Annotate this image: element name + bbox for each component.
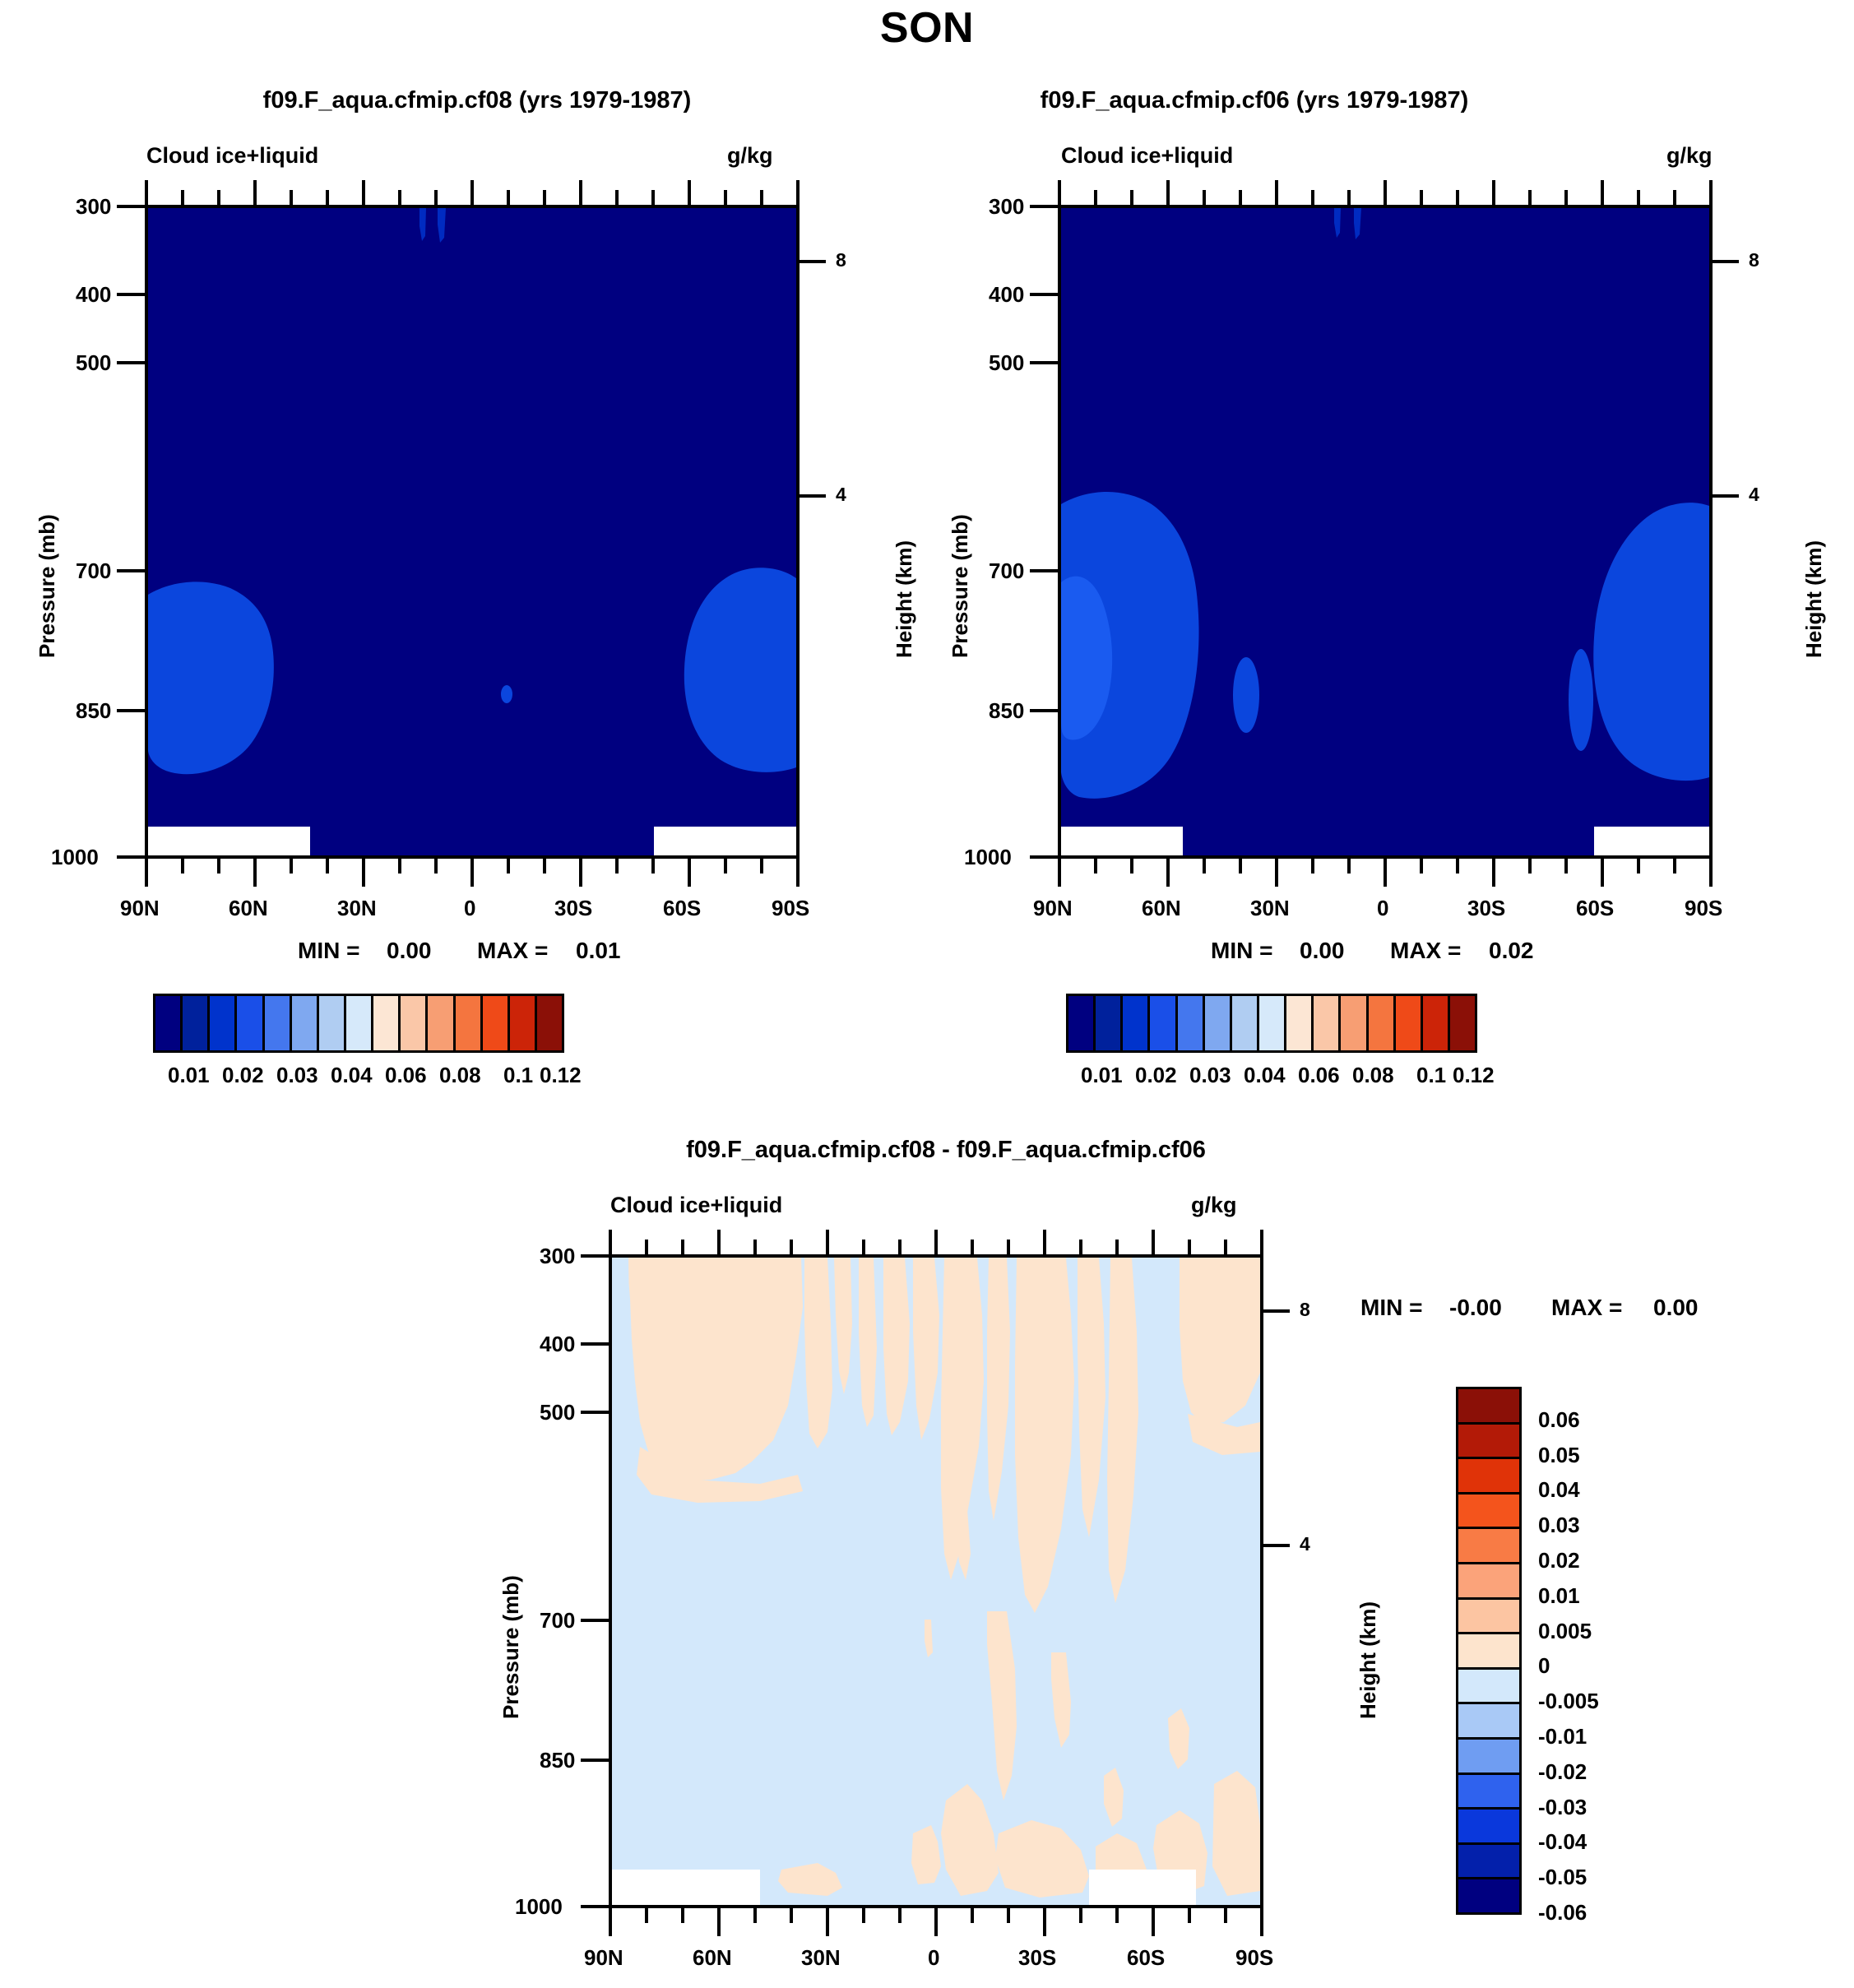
panel-c-colorbar-tick-12: -0.04 [1538,1829,1686,1855]
panel-b-toptick [1709,180,1713,205]
panel-b-xtick-0: 0 [1377,896,1388,921]
panel-c-xtickmark-minor [1224,1908,1227,1923]
panel-c-ytick-300: 300 [540,1244,575,1269]
panel-c-colorbar-tick-10: -0.02 [1538,1759,1686,1785]
panel-c-xtickmark-90S [1260,1908,1263,1936]
panel-c-plot-area[interactable] [609,1254,1263,1908]
panel-b-colorbar-swatch-4[interactable] [1178,996,1205,1050]
panel-a-toptick [145,180,148,205]
panel-c-ytickmark-700 [581,1619,609,1622]
panel-a-toptick [253,180,257,205]
panel-b-xtickmark-minor [1203,859,1206,874]
panel-c-colorbar-swatch-0[interactable] [1458,1389,1519,1425]
panel-c-xtickmark-minor [681,1908,684,1923]
panel-a-xtickmark-minor [507,859,510,874]
panel-c-toptick [1152,1230,1155,1254]
panel-a-toptick [615,190,619,205]
panel-a-colorbar-swatch-4[interactable] [265,996,292,1050]
panel-c-xtickmark-90N [609,1908,612,1936]
panel-c-toptick [826,1230,829,1254]
panel-c-xtick-90N: 90N [584,1945,623,1971]
panel-c-toptick [1224,1240,1227,1254]
panel-a-xtickmark-minor [651,859,655,874]
panel-b-xtickmark-minor [1673,859,1676,874]
panel-b-variable-label: Cloud ice+liquid [1061,143,1233,169]
panel-a-xtickmark-minor [290,859,293,874]
panel-b-xtick-90S: 90S [1685,896,1722,921]
panel-b-y2tickmark-8 [1713,260,1739,263]
panel-c-min-label: MIN = [1360,1295,1422,1321]
panel-c-toptick [971,1240,974,1254]
panel-c-colorbar-tick-5: 0.01 [1538,1583,1686,1609]
panel-b-cbar-tick-6: 0.1 [1416,1063,1446,1088]
panel-c-colorbar-swatch-8[interactable] [1458,1670,1519,1705]
panel-c-colorbar-tick-11: -0.03 [1538,1795,1686,1820]
panel-b-toptick [1347,190,1351,205]
panel-b-cbar-tick-5: 0.08 [1352,1063,1394,1088]
panel-c-xtickmark-minor [1115,1908,1119,1923]
panel-a-xtickmark-90N [145,859,148,887]
panel-c-xtickmark-minor [753,1908,757,1923]
panel-b-ytickmark-850 [1030,709,1058,712]
panel-a-xtickmark-0 [470,859,474,887]
panel-c-xtickmark-minor [1188,1908,1191,1923]
panel-a-y-axis-title: Pressure (mb) [35,514,60,658]
panel-a-xtickmark-60S [688,859,691,887]
panel-b-xtickmark-minor [1311,859,1314,874]
panel-a-colorbar-swatch-6[interactable] [319,996,346,1050]
panel-a-ytickmark-700 [117,569,145,572]
panel-b-ytick-500: 500 [989,350,1024,376]
panel-b-xtickmark-minor [1528,859,1532,874]
panel-b-xtickmark-0 [1384,859,1387,887]
panel-a-max-value: 0.01 [576,938,621,964]
panel-c-toptick [1007,1240,1010,1254]
panel-c-toptick [1188,1240,1191,1254]
panel-b-ytick-700: 700 [989,558,1024,584]
panel-b-y2-axis-title: Height (km) [1801,540,1827,658]
panel-c-toptick [753,1240,757,1254]
panel-a-xtick-30N: 30N [337,896,377,921]
panel-c-toptick [898,1240,902,1254]
panel-b-y2tick-8: 8 [1749,249,1759,271]
panel-a-variable-label: Cloud ice+liquid [146,143,318,169]
panel-c-min-value: -0.00 [1449,1295,1502,1321]
panel-b-ytick-1000: 1000 [964,845,1012,870]
panel-c-y2tickmark-4 [1263,1544,1290,1547]
panel-a-toptick [326,190,329,205]
panel-b-colorbar-swatch-14[interactable] [1450,996,1475,1050]
panel-b-xtickmark-30N [1275,859,1278,887]
panel-c-xtickmark-minor [898,1908,902,1923]
panel-a-cbar-tick-3: 0.04 [331,1063,373,1088]
panel-b-xtickmark-60S [1601,859,1604,887]
panel-b-colorbar-swatch-10[interactable] [1341,996,1368,1050]
panel-b-cbar-tick-2: 0.03 [1189,1063,1231,1088]
panel-a-ytick-1000: 1000 [51,845,99,870]
panel-c-ytickmark-300 [581,1254,609,1258]
panel-c-colorbar-swatch-4[interactable] [1458,1529,1519,1564]
panel-c-colorbar-tick-1: 0.05 [1538,1443,1686,1468]
panel-b-colorbar-swatch-13[interactable] [1423,996,1450,1050]
panel-b-colorbar-swatch-5[interactable] [1205,996,1232,1050]
panel-b-cbar-tick-7: 0.12 [1453,1063,1495,1088]
panel-a-toptick [290,190,293,205]
panel-b-max-value: 0.02 [1489,938,1534,964]
panel-c-colorbar-tick-3: 0.03 [1538,1513,1686,1538]
panel-c-y-axis-title: Pressure (mb) [498,1575,524,1719]
panel-a-xtick-90S: 90S [772,896,809,921]
panel-a-xtickmark-minor [434,859,438,874]
panel-c-ytickmark-1000 [581,1905,609,1908]
panel-c-y2tick-4: 4 [1300,1533,1310,1555]
panel-b-toptick [1275,180,1278,205]
panel-b-toptick [1420,190,1423,205]
panel-a-ytick-700: 700 [76,558,111,584]
panel-a-ytickmark-1000 [117,855,145,859]
panel-a-toptick [362,180,365,205]
panel-b-cbar-tick-3: 0.04 [1244,1063,1286,1088]
panel-c-xtickmark-minor [645,1908,648,1923]
panel-b-xtickmark-minor [1564,859,1568,874]
panel-c-colorbar-tick-7: 0 [1538,1653,1686,1679]
panel-a-ytickmark-850 [117,709,145,712]
panel-b-ytickmark-300 [1030,205,1058,208]
panel-a-toptick [651,190,655,205]
panel-b-ytick-300: 300 [989,194,1024,220]
panel-b-xtickmark-minor [1420,859,1423,874]
panel-a-ytickmark-500 [117,361,145,364]
panel-a-colorbar-swatch-14[interactable] [537,996,562,1050]
panel-a-ytick-400: 400 [76,282,111,308]
panel-a-colorbar-swatch-8[interactable] [373,996,401,1050]
panel-a-colorbar-swatch-13[interactable] [510,996,537,1050]
panel-b-colorbar-swatch-8[interactable] [1286,996,1314,1050]
panel-a-toptick [796,180,800,205]
panel-b-toptick [1384,180,1387,205]
panel-c-colorbar-labels: 0.060.050.040.030.020.010.0050-0.005-0.0… [1538,1387,1686,1915]
panel-a-ytickmark-400 [117,293,145,296]
panel-a-toptick [724,190,727,205]
panel-a-toptick [688,180,691,205]
panel-a-xtickmark-minor [398,859,401,874]
panel-b-cbar-tick-1: 0.02 [1135,1063,1177,1088]
panel-c-title: f09.F_aqua.cfmip.cf08 - f09.F_aqua.cfmip… [510,1137,1382,1164]
panel-a-y2tick-4: 4 [836,484,846,506]
panel-a-colorbar[interactable] [153,994,564,1053]
panel-b-xtick-90N: 90N [1033,896,1073,921]
panel-b-xtickmark-90S [1709,859,1713,887]
panel-b-xtick-30S: 30S [1467,896,1505,921]
panel-c-colorbar-tick-0: 0.06 [1538,1407,1686,1433]
panel-a-y2tickmark-4 [800,494,826,498]
panel-c-ytickmark-500 [581,1411,609,1414]
panel-b-xtickmark-minor [1094,859,1097,874]
panel-c-colorbar-swatch-11[interactable] [1458,1775,1519,1810]
panel-c-contours [612,1258,1260,1905]
panel-b-colorbar-swatch-1[interactable] [1096,996,1123,1050]
panel-a-cbar-tick-7: 0.12 [540,1063,582,1088]
panel-c-colorbar-tick-8: -0.005 [1538,1689,1686,1714]
panel-a-min-value: 0.00 [387,938,432,964]
panel-a-xtickmark-minor [760,859,763,874]
panel-c-toptick [681,1240,684,1254]
panel-c-colorbar-swatch-7[interactable] [1458,1634,1519,1670]
panel-a-xtickmark-30S [579,859,582,887]
panel-a-xtick-60S: 60S [663,896,701,921]
panel-a-xtick-90N: 90N [120,896,160,921]
panel-c-colorbar-swatch-2[interactable] [1458,1459,1519,1494]
panel-c-xtick-60N: 60N [693,1945,732,1971]
panel-c-ytickmark-400 [581,1342,609,1346]
panel-a-contours [148,208,796,855]
panel-b-min-value: 0.00 [1300,938,1345,964]
panel-a-xtick-30S: 30S [554,896,592,921]
panel-c-toptick [934,1230,938,1254]
panel-b-colorbar-swatch-3[interactable] [1150,996,1177,1050]
panel-b-max-label: MAX = [1390,938,1461,964]
panel-a-toptick [217,190,220,205]
panel-a-toptick [470,180,474,205]
panel-a-colorbar-swatch-7[interactable] [346,996,373,1050]
panel-c-ytick-700: 700 [540,1608,575,1633]
panel-c-xtickmark-60N [717,1908,721,1936]
panel-b-colorbar-swatch-0[interactable] [1068,996,1096,1050]
panel-b-xtickmark-minor [1456,859,1459,874]
panel-a-xtickmark-minor [615,859,619,874]
panel-c-xtick-30N: 30N [801,1945,841,1971]
panel-b-units-label: g/kg [1666,143,1713,169]
panel-b-colorbar-swatch-7[interactable] [1259,996,1286,1050]
panel-c-xtickmark-30N [826,1908,829,1936]
panel-b-xtick-60N: 60N [1142,896,1181,921]
panel-b-contours [1061,208,1709,855]
panel-b-ytick-400: 400 [989,282,1024,308]
panel-a-toptick [398,190,401,205]
panel-c-max-value: 0.00 [1653,1295,1699,1321]
panel-a-xtickmark-minor [326,859,329,874]
panel-b-toptick [1130,190,1133,205]
panel-c-xtickmark-minor [862,1908,865,1923]
panel-c-colorbar-swatch-12[interactable] [1458,1810,1519,1845]
panel-c-ytick-850: 850 [540,1748,575,1773]
panel-a-colorbar-swatch-5[interactable] [292,996,319,1050]
panel-c-xtickmark-minor [971,1908,974,1923]
panel-b-colorbar-swatch-9[interactable] [1314,996,1341,1050]
panel-b-xtickmark-60N [1166,859,1170,887]
panel-c-toptick [790,1240,793,1254]
figure-root: SON f09.F_aqua.cfmip.cf08 (yrs 1979-1987… [0,0,1854,1988]
panel-b-cbar-tick-4: 0.06 [1298,1063,1340,1088]
panel-b-ytick-850: 850 [989,698,1024,724]
panel-b-xtick-30N: 30N [1250,896,1290,921]
panel-b-toptick [1203,190,1206,205]
panel-c-ytick-400: 400 [540,1332,575,1357]
panel-b-y2tick-4: 4 [1749,484,1759,506]
panel-a-xtickmark-minor [543,859,546,874]
panel-c-ytick-500: 500 [540,1400,575,1425]
panel-c-xtickmark-minor [1079,1908,1082,1923]
panel-c-toptick [1043,1230,1046,1254]
panel-c-xtick-90S: 90S [1235,1945,1273,1971]
panel-a-colorbar-swatch-1[interactable] [183,996,210,1050]
panel-c-colorbar-swatch-5[interactable] [1458,1564,1519,1600]
panel-a-ytick-300: 300 [76,194,111,220]
panel-a-toptick [507,190,510,205]
panel-b-colorbar-swatch-11[interactable] [1369,996,1396,1050]
panel-c-colorbar-tick-4: 0.02 [1538,1548,1686,1573]
panel-a-xtickmark-minor [217,859,220,874]
panel-c-xtick-30S: 30S [1018,1945,1056,1971]
panel-a-cbar-tick-5: 0.08 [439,1063,481,1088]
panel-b-plot-area[interactable] [1058,205,1713,859]
panel-b-xtick-60S: 60S [1576,896,1614,921]
panel-c-colorbar-tick-2: 0.04 [1538,1477,1686,1503]
panel-a-y2tickmark-8 [800,260,826,263]
panel-b-xtickmark-minor [1347,859,1351,874]
panel-a-colorbar-swatch-12[interactable] [483,996,510,1050]
panel-c-units-label: g/kg [1191,1193,1237,1218]
panel-c-toptick [1079,1240,1082,1254]
panel-c-colorbar-tick-9: -0.01 [1538,1724,1686,1749]
panel-a-toptick [760,190,763,205]
panel-b-xtickmark-minor [1130,859,1133,874]
panel-b-toptick [1094,190,1097,205]
panel-c-xtickmark-30S [1043,1908,1046,1936]
panel-a-colorbar-swatch-11[interactable] [456,996,483,1050]
panel-c-xtick-60S: 60S [1127,1945,1165,1971]
panel-a-cbar-tick-6: 0.1 [503,1063,533,1088]
panel-a-xtickmark-minor [181,859,184,874]
panel-b-toptick [1166,180,1170,205]
panel-b-xtickmark-90N [1058,859,1061,887]
panel-a-xtickmark-minor [724,859,727,874]
panel-a-cbar-tick-4: 0.06 [385,1063,427,1088]
panel-a-min-label: MIN = [298,938,359,964]
figure-suptitle: SON [0,3,1854,53]
panel-b-toptick [1058,180,1061,205]
panel-b-min-label: MIN = [1211,938,1272,964]
panel-a-ytick-500: 500 [76,350,111,376]
panel-b-toptick [1673,190,1676,205]
panel-c-toptick [862,1240,865,1254]
panel-c-xtickmark-minor [790,1908,793,1923]
panel-b-ytickmark-500 [1030,361,1058,364]
panel-b-toptick [1492,180,1495,205]
panel-c-colorbar-swatch-14[interactable] [1458,1879,1519,1912]
panel-b-ytickmark-400 [1030,293,1058,296]
panel-a-ytick-850: 850 [76,698,111,724]
panel-a-colorbar-swatch-9[interactable] [401,996,428,1050]
panel-c-colorbar-swatch-3[interactable] [1458,1494,1519,1530]
panel-b-cbar-tick-0: 0.01 [1081,1063,1123,1088]
panel-a-xtickmark-60N [253,859,257,887]
panel-b-toptick [1564,190,1568,205]
panel-c-colorbar-tick-6: 0.005 [1538,1619,1686,1644]
panel-c-toptick [1260,1230,1263,1254]
panel-c-y2-axis-title: Height (km) [1356,1601,1381,1719]
panel-b-colorbar-swatch-6[interactable] [1232,996,1259,1050]
panel-c-toptick [717,1230,721,1254]
panel-c-colorbar-swatch-9[interactable] [1458,1704,1519,1740]
panel-a-colorbar-swatch-2[interactable] [210,996,237,1050]
panel-c-xtickmark-0 [934,1908,938,1936]
panel-c-y2tick-8: 8 [1300,1299,1310,1321]
panel-c-ytickmark-850 [581,1759,609,1762]
panel-c-colorbar[interactable] [1456,1387,1522,1915]
panel-b-colorbar-swatch-12[interactable] [1396,996,1423,1050]
panel-a-y2tick-8: 8 [836,249,846,271]
panel-c-toptick [1115,1240,1119,1254]
panel-b-toptick [1456,190,1459,205]
panel-a-colorbar-swatch-10[interactable] [428,996,455,1050]
panel-c-xtickmark-60S [1152,1908,1155,1936]
panel-c-colorbar-swatch-13[interactable] [1458,1845,1519,1880]
panel-a-cbar-tick-0: 0.01 [168,1063,210,1088]
panel-c-xtick-0: 0 [928,1945,939,1971]
panel-a-colorbar-swatch-0[interactable] [155,996,183,1050]
panel-b-y-axis-title: Pressure (mb) [948,514,973,658]
panel-c-ytick-1000: 1000 [515,1894,563,1920]
panel-a-toptick [181,190,184,205]
panel-c-colorbar-tick-13: -0.05 [1538,1865,1686,1890]
panel-a-ytickmark-300 [117,205,145,208]
panel-a-toptick [434,190,438,205]
panel-c-variable-label: Cloud ice+liquid [610,1193,782,1218]
panel-a-max-label: MAX = [477,938,548,964]
panel-b-toptick [1601,180,1604,205]
panel-b-toptick [1239,190,1242,205]
panel-a-units-label: g/kg [727,143,773,169]
panel-b-xtickmark-30S [1492,859,1495,887]
panel-c-colorbar-swatch-6[interactable] [1458,1600,1519,1635]
panel-c-toptick [609,1230,612,1254]
panel-a-cbar-tick-1: 0.02 [222,1063,264,1088]
panel-b-xtickmark-minor [1637,859,1640,874]
panel-b-ytickmark-700 [1030,569,1058,572]
panel-a-toptick [543,190,546,205]
panel-c-y2tickmark-8 [1263,1309,1290,1313]
panel-b-title: f09.F_aqua.cfmip.cf06 (yrs 1979-1987) [913,87,1596,114]
panel-b-colorbar-swatch-2[interactable] [1123,996,1150,1050]
panel-b-ytickmark-1000 [1030,855,1058,859]
panel-b-xtickmark-minor [1239,859,1242,874]
panel-c-xtickmark-minor [1007,1908,1010,1923]
panel-c-colorbar-swatch-10[interactable] [1458,1740,1519,1775]
panel-c-colorbar-swatch-1[interactable] [1458,1425,1519,1460]
panel-a-xtick-0: 0 [464,896,475,921]
panel-a-cbar-tick-2: 0.03 [276,1063,318,1088]
panel-a-plot-area[interactable] [145,205,800,859]
panel-a-xtickmark-30N [362,859,365,887]
panel-b-toptick [1528,190,1532,205]
panel-b-y2tickmark-4 [1713,494,1739,498]
panel-a-colorbar-swatch-3[interactable] [237,996,264,1050]
panel-b-colorbar[interactable] [1066,994,1477,1053]
panel-a-xtick-60N: 60N [229,896,268,921]
panel-c-colorbar-tick-14: -0.06 [1538,1900,1686,1925]
panel-c-max-label: MAX = [1551,1295,1622,1321]
panel-b-toptick [1637,190,1640,205]
panel-a-toptick [579,180,582,205]
panel-a-xtickmark-90S [796,859,800,887]
panel-a-y2-axis-title: Height (km) [892,540,917,658]
panel-b-toptick [1311,190,1314,205]
panel-a-title: f09.F_aqua.cfmip.cf08 (yrs 1979-1987) [148,87,806,114]
panel-c-toptick [645,1240,648,1254]
